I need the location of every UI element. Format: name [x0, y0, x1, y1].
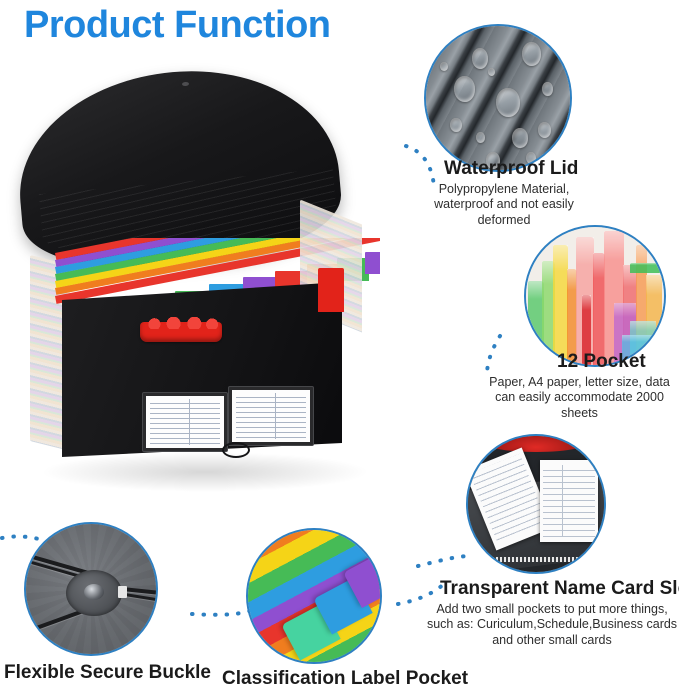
- buckle-loop: [222, 442, 250, 458]
- callout-body-waterproof-lid: Polypropylene Material, waterproof and n…: [424, 182, 584, 228]
- product-shadow: [40, 452, 370, 492]
- callout-heading-name-card-slot: Transparent Name Card Slot: [440, 578, 679, 600]
- callout-heading-classification-label-pocket: Classification Label Pocket: [222, 668, 468, 690]
- callout-heading-waterproof-lid: Waterproof Lid: [444, 158, 578, 180]
- callout-image-12-pocket: [524, 225, 666, 367]
- callout-image-buckle: [24, 522, 158, 656]
- connector-classification-right: [398, 582, 446, 604]
- connector-12-pocket: [487, 336, 500, 372]
- name-card-window-left: [142, 392, 228, 452]
- label-card-left: [146, 396, 224, 448]
- callout-image-waterproof-lid: [424, 24, 572, 172]
- red-flap: [318, 268, 344, 312]
- connector-name-card-slot: [418, 556, 470, 566]
- callout-heading-buckle: Flexible Secure Buckle: [4, 662, 211, 684]
- callout-image-classification-label-pocket: [246, 528, 382, 664]
- page-title: Product Function: [24, 4, 331, 47]
- name-card-flat: [540, 460, 598, 542]
- callout-body-12-pocket: Paper, A4 paper, letter size, data can e…: [480, 375, 679, 421]
- carry-handle: [140, 322, 222, 342]
- connector-classification: [192, 610, 252, 615]
- product-image: [0, 60, 410, 480]
- name-card-window-right: [228, 386, 314, 446]
- infographic-canvas: Product Function: [0, 0, 679, 692]
- callout-body-name-card-slot: Add two small pockets to put more things…: [425, 602, 679, 648]
- callout-image-name-card-slot: [466, 434, 606, 574]
- callout-heading-12-pocket: 12 Pocket: [557, 351, 646, 373]
- label-card-right: [232, 390, 310, 442]
